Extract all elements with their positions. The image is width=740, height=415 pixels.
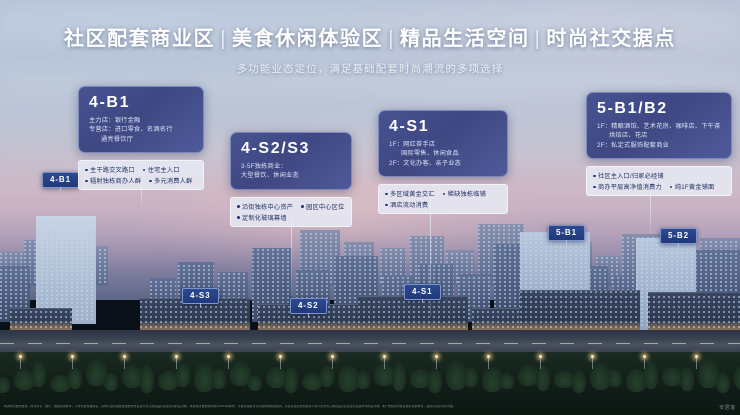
window-row [636, 260, 696, 262]
window-row [252, 265, 292, 267]
callout-tag-label: 园区中心区位 [306, 202, 344, 211]
street-lamp [436, 357, 437, 369]
bullet-icon [143, 169, 146, 172]
window-row [690, 281, 740, 283]
window-row [520, 316, 640, 318]
building-tag-4-b1[interactable]: 4-B1 [42, 172, 79, 188]
window-row [218, 281, 248, 283]
legal-disclaimer: 本资料为要约邀请，所有文字、图片、数据仅供参考，不作为要约或承诺，具体以政府最终… [4, 405, 456, 408]
window-row [648, 296, 740, 298]
page-title: 社区配套商业区|美食休闲体验区|精品生活空间|时尚社交据点 [0, 22, 740, 51]
window-row [334, 281, 378, 283]
window-row [520, 278, 590, 280]
window-row [140, 311, 250, 313]
window-row [252, 281, 292, 283]
window-row [418, 277, 454, 279]
tree [356, 371, 370, 389]
window-row [218, 273, 248, 275]
title-separator: | [215, 28, 232, 50]
callout-tag: 多元消费人群 [149, 176, 192, 185]
window-row [418, 269, 454, 271]
callout-description-line: 3-5F独栋商业： [241, 162, 341, 172]
window-row [334, 261, 378, 263]
bullet-icon [593, 186, 596, 189]
bullet-icon [237, 205, 240, 208]
bullet-icon [443, 193, 446, 196]
tree [608, 369, 622, 387]
callout-card-head: 4-B1 主力店：银行金融专营店：进口零食、名酒名行通亮餐饮厅 [78, 86, 204, 153]
bullet-icon [85, 169, 88, 172]
bullet-icon [301, 205, 304, 208]
window-row [252, 261, 292, 263]
callout-description: 3-5F独栋商业：大型餐饮、休闲业态 [241, 162, 341, 181]
tree [68, 367, 82, 389]
street-lamp [280, 357, 281, 369]
callout-tag-label: 纯1F黄金铺面 [675, 182, 715, 191]
callout-tag: 多区域黄金交汇 [385, 189, 435, 198]
tree [734, 365, 740, 390]
callout-card-5-b1-b2[interactable]: 5-B1/B2 1F：精酿酒馆、艺术花房、咖啡店、下午茶烘焙店、花店2F：私定式… [586, 92, 732, 196]
window-row [636, 268, 696, 270]
window-row [296, 273, 330, 275]
title-separator: | [530, 28, 547, 50]
window-row [636, 280, 696, 282]
window-row [36, 262, 96, 264]
callout-card-head: 5-B1/B2 1F：精酿酒馆、艺术花房、咖啡店、下午茶烘焙店、花店2F：私定式… [586, 92, 732, 159]
callout-description-line: 主力店：银行金融 [89, 116, 193, 126]
callout-tag: 辐射独栋商办人群 [85, 176, 141, 185]
window-row [690, 269, 740, 271]
callout-tag-label: 社区主入口/归家必经铺 [598, 171, 664, 180]
tree [284, 367, 298, 393]
tree [464, 367, 478, 387]
tree [500, 373, 514, 389]
bullet-icon [385, 204, 388, 207]
window-row [648, 316, 740, 318]
tree [572, 371, 586, 393]
window-row [636, 248, 696, 250]
leader-line [291, 218, 292, 296]
window-row [520, 270, 590, 272]
callout-tag: 沿街独栋中心资产 [237, 202, 293, 211]
window-row [150, 281, 176, 283]
window-row [520, 266, 590, 268]
window-row [418, 281, 454, 283]
bullet-icon [149, 180, 152, 183]
callout-tag: 住宅主入口 [143, 165, 180, 174]
window-row [458, 281, 490, 283]
callout-tag-label: 住宅主入口 [148, 165, 180, 174]
callout-tag-label: 酒店流动消费 [390, 200, 428, 209]
window-row [520, 274, 590, 276]
window-row [690, 257, 740, 259]
window-row [648, 311, 740, 313]
street-lamp [176, 357, 177, 369]
window-row [10, 311, 72, 313]
street-lamp [384, 357, 385, 369]
tree [716, 373, 730, 393]
window-row [0, 277, 30, 279]
window-row [520, 246, 590, 248]
title-segment: 社区配套商业区 [64, 28, 215, 50]
building-tag-4-s1[interactable]: 4-S1 [404, 284, 441, 300]
poster-header: 社区配套商业区|美食休闲体验区|精品生活空间|时尚社交据点 多功能业态定位，满足… [0, 0, 740, 76]
tree [644, 361, 658, 389]
window-row [334, 269, 378, 271]
callout-card-head: 4-S1 1F：网红茶手店国际零售、休闲食品2F：文化办客、亲子业态 [378, 110, 508, 177]
window-row [520, 254, 590, 256]
window-row [690, 261, 740, 263]
window-row [0, 269, 30, 271]
callout-tag-list: 主干路交叉路口住宅主入口辐射独栋商办人群多元消费人群 [78, 160, 204, 190]
callout-description-line: 烘焙店、花店 [597, 131, 721, 141]
window-row [358, 311, 468, 313]
callout-tag: 主干路交叉路口 [85, 165, 135, 174]
window-row [520, 250, 590, 252]
bullet-icon [670, 186, 673, 189]
window-row [178, 269, 214, 271]
window-row [636, 252, 696, 254]
window-row [520, 296, 640, 298]
window-row [36, 274, 96, 276]
window-row [252, 249, 292, 251]
callout-tag: 酒店流动消费 [385, 200, 428, 209]
callout-tag-label: 主干路交叉路口 [90, 165, 135, 174]
callout-code: 5-B1/B2 [597, 100, 721, 118]
callout-tag-list: 沿街独栋中心资产园区中心区位定制化玻璃幕墙 [230, 197, 352, 227]
window-row [520, 301, 640, 303]
window-row [648, 306, 740, 308]
callout-tag-label: 沿街独栋中心资产 [242, 202, 293, 211]
window-row [178, 265, 214, 267]
street-lamp [228, 357, 229, 369]
window-row [252, 253, 292, 255]
title-segment: 精品生活空间 [400, 28, 530, 50]
callout-tag-label: 定制化玻璃幕墙 [242, 213, 287, 222]
callout-card-4-s1[interactable]: 4-S1 1F：网红茶手店国际零售、休闲食品2F：文化办客、亲子业态 多区域黄金… [378, 110, 508, 214]
window-row [334, 265, 378, 267]
window-row [636, 276, 696, 278]
window-row [252, 257, 292, 259]
title-separator: | [383, 28, 400, 50]
callout-tag-label: 稀缺独栋临铺 [448, 189, 486, 198]
street-lamp [592, 357, 593, 369]
callout-tag: 园区中心区位 [301, 202, 344, 211]
window-row [296, 277, 330, 279]
window-row [636, 272, 696, 274]
window-row [36, 282, 96, 284]
tree-line [0, 340, 740, 395]
window-row [648, 301, 740, 303]
window-row [458, 277, 490, 279]
street-lamp [488, 357, 489, 369]
tree [0, 377, 10, 393]
callout-description-line: 专营店：进口零食、名酒名行 [89, 125, 193, 135]
tree [32, 361, 46, 387]
window-row [36, 222, 96, 224]
callout-description: 1F：精酿酒馆、艺术花房、咖啡店、下午茶烘焙店、花店2F：私定式服饰配套商业 [597, 122, 721, 151]
window-row [520, 282, 590, 284]
window-row [418, 265, 454, 267]
callout-code: 4-S1 [389, 118, 497, 136]
tree [680, 367, 694, 391]
street-lamp [332, 357, 333, 369]
window-row [218, 277, 248, 279]
window-row [636, 244, 696, 246]
window-row [334, 277, 378, 279]
window-row [690, 277, 740, 279]
callout-tag-label: 商办平层高净值消费力 [598, 182, 662, 191]
window-row [358, 316, 468, 318]
tree [140, 365, 154, 393]
window-row [520, 291, 640, 293]
window-row [690, 273, 740, 275]
window-row [140, 306, 250, 308]
callout-tag-label: 多区域黄金交汇 [390, 189, 435, 198]
title-segment: 时尚社交据点 [546, 28, 676, 50]
tree [176, 363, 190, 387]
window-row [36, 258, 96, 260]
callout-tag: 定制化玻璃幕墙 [237, 213, 287, 222]
window-row [140, 316, 250, 318]
window-row [178, 273, 214, 275]
poster-stage: 社区配套商业区|美食休闲体验区|精品生活空间|时尚社交据点 多功能业态定位，满足… [0, 0, 740, 415]
window-row [36, 242, 96, 244]
window-row [520, 306, 640, 308]
tree [212, 369, 226, 389]
window-row [296, 281, 330, 283]
window-row [520, 311, 640, 313]
street-lamp [540, 357, 541, 369]
callout-description-line: 1F：精酿酒馆、艺术花房、咖啡店、下午茶 [597, 122, 721, 132]
callout-description: 1F：网红茶手店国际零售、休闲食品2F：文化办客、亲子业态 [389, 140, 497, 169]
window-row [36, 234, 96, 236]
window-row [334, 257, 378, 259]
window-row [334, 273, 378, 275]
window-row [36, 218, 96, 220]
callout-card-4-b1[interactable]: 4-B1 主力店：银行金融专营店：进口零食、名酒名行通亮餐饮厅 主干路交叉路口住… [78, 86, 204, 190]
window-row [690, 265, 740, 267]
callout-description-line: 通亮餐饮厅 [89, 135, 193, 145]
building-tag-4-s3[interactable]: 4-S3 [182, 288, 219, 304]
window-row [520, 242, 590, 244]
window-row [36, 230, 96, 232]
tree [428, 369, 442, 393]
window-row [636, 256, 696, 258]
window-row [0, 281, 30, 283]
callout-tag-list: 多区域黄金交汇稀缺独栋临铺酒店流动消费 [378, 184, 508, 214]
callout-tag: 纯1F黄金铺面 [670, 182, 715, 191]
street-lamp [72, 357, 73, 369]
window-row [36, 278, 96, 280]
callout-description-line: 2F：文化办客、亲子业态 [389, 159, 497, 169]
street-lamp [20, 357, 21, 369]
street-lamp [644, 357, 645, 369]
window-row [36, 250, 96, 252]
callout-description-line: 大型餐饮、休闲业态 [241, 171, 341, 181]
window-row [382, 281, 412, 283]
window-row [636, 264, 696, 266]
window-row [358, 306, 468, 308]
callout-description-line: 1F：网红茶手店 [389, 140, 497, 150]
callout-tag-list: 社区主入口/归家必经铺商办平层高净值消费力纯1F黄金铺面 [586, 166, 732, 196]
window-row [520, 258, 590, 260]
street-lamp [696, 357, 697, 369]
callout-description-line: 2F：私定式服饰配套商业 [597, 141, 721, 151]
building-tag-5-b2[interactable]: 5-B2 [660, 228, 697, 244]
window-row [36, 266, 96, 268]
window-row [358, 301, 468, 303]
callout-code: 4-B1 [89, 94, 193, 112]
bullet-icon [593, 175, 596, 178]
building-tag-4-s2[interactable]: 4-S2 [290, 298, 327, 314]
callout-card-4-s2-s3[interactable]: 4-S2/S3 3-5F独栋商业：大型餐饮、休闲业态 沿街独栋中心资产园区中心区… [230, 132, 352, 227]
building-tag-5-b1[interactable]: 5-B1 [548, 225, 585, 241]
window-row [0, 273, 30, 275]
window-row [36, 226, 96, 228]
bullet-icon [237, 216, 240, 219]
callout-card-head: 4-S2/S3 3-5F独栋商业：大型餐饮、休闲业态 [230, 132, 352, 190]
callout-tag: 社区主入口/归家必经铺 [593, 171, 664, 180]
callout-description: 主力店：银行金融专营店：进口零食、名酒名行通亮餐饮厅 [89, 116, 193, 145]
bullet-icon [85, 180, 88, 183]
window-row [418, 273, 454, 275]
callout-tag-label: 多元消费人群 [154, 176, 192, 185]
callout-tag: 商办平层高净值消费力 [593, 182, 662, 191]
tree [392, 363, 406, 391]
window-row [252, 269, 292, 271]
window-row [382, 277, 412, 279]
window-row [36, 270, 96, 272]
window-row [690, 253, 740, 255]
window-row [252, 273, 292, 275]
bullet-icon [385, 193, 388, 196]
window-row [36, 238, 96, 240]
leader-line [650, 192, 651, 234]
callout-tag-label: 辐射独栋商办人群 [90, 176, 141, 185]
window-row [10, 316, 72, 318]
callout-code: 4-S2/S3 [241, 140, 341, 158]
page-subtitle: 多功能业态定位，满足基础配套时尚潮流的多项选择 [0, 61, 740, 76]
tree [248, 375, 262, 391]
watermark: 安居客 [715, 404, 736, 411]
footer-bar: 本资料为要约邀请，所有文字、图片、数据仅供参考，不作为要约或承诺，具体以政府最终… [0, 399, 740, 415]
street-lamp [124, 357, 125, 369]
callout-description-line: 国际零售、休闲食品 [389, 149, 497, 159]
tree [536, 365, 550, 391]
callout-tag: 稀缺独栋临铺 [443, 189, 486, 198]
title-segment: 美食休闲体验区 [232, 28, 383, 50]
window-row [252, 277, 292, 279]
window-row [520, 262, 590, 264]
tree [104, 373, 118, 391]
window-row [178, 281, 214, 283]
window-row [36, 246, 96, 248]
window-row [178, 277, 214, 279]
window-row [36, 254, 96, 256]
